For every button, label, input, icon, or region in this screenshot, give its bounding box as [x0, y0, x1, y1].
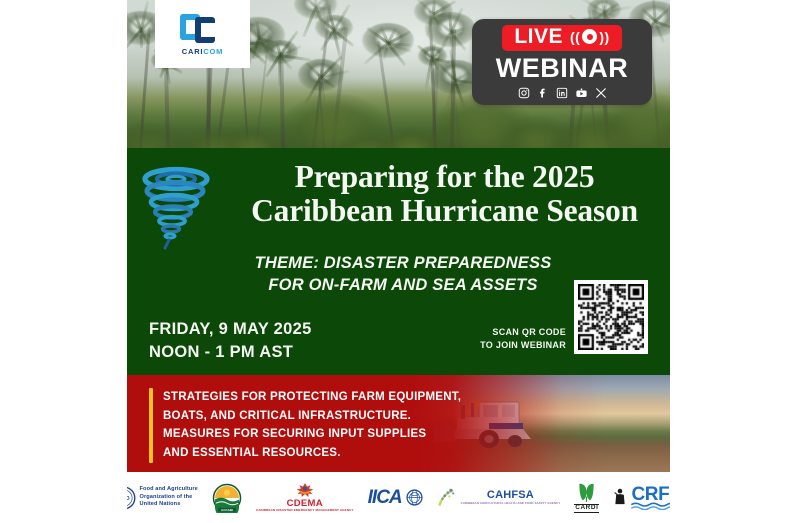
live-pill: LIVE (()) [502, 25, 621, 51]
banner-lines: STRATEGIES FOR PROTECTING FARM EQUIPMENT… [163, 388, 461, 463]
cahfsa-sublabel: CARIBBEAN AGRICULTURAL HEALTH AND FOOD S… [461, 502, 561, 505]
iica-label: IICA [368, 488, 402, 507]
crfm-logo: CRFM [613, 485, 670, 510]
cardi-leaf-icon [577, 482, 596, 503]
banner-line-3: MEASURES FOR SECURING INPUT SUPPLIES [163, 425, 461, 444]
qr-caption-line-1: SCAN QR CODE [438, 326, 566, 339]
accabi-emblem-icon: ACCABI [212, 483, 242, 513]
fao-logo: FAO Food and Agriculture Organization of… [127, 486, 198, 510]
event-date: FRIDAY, 9 MAY 2025 [149, 318, 312, 341]
title-block: Preparing for the 2025 Caribbean Hurrica… [227, 160, 662, 228]
live-webinar-badge: LIVE (()) WEBINAR [472, 19, 652, 105]
caricom-word-com: COM [203, 47, 223, 56]
qr-caption-line-2: TO JOIN WEBINAR [438, 339, 566, 352]
fao-emblem-icon: FAO [127, 486, 136, 510]
cardi-logo: CARDI [574, 482, 599, 513]
broadcast-icon: (()) [570, 29, 610, 44]
qr-caption: SCAN QR CODE TO JOIN WEBINAR [438, 326, 566, 352]
crfm-waves-icon [631, 502, 670, 510]
date-time-block: FRIDAY, 9 MAY 2025 NOON - 1 PM AST [149, 318, 312, 364]
caricom-word-cari: CARI [182, 47, 204, 56]
caricom-mark-icon [180, 12, 226, 46]
youtube-icon[interactable] [575, 87, 588, 99]
banner-line-4: AND ESSENTIAL RESOURCES. [163, 444, 461, 463]
crfm-fisherman-icon [613, 488, 627, 508]
event-time: NOON - 1 PM AST [149, 341, 312, 364]
x-twitter-icon[interactable] [595, 87, 607, 99]
title-line-1: Preparing for the 2025 [227, 160, 662, 194]
webinar-flyer: CARICOM LIVE (()) WEBINAR [127, 0, 670, 523]
iica-globe-icon [406, 489, 423, 506]
banner-line-1: STRATEGIES FOR PROTECTING FARM EQUIPMENT… [163, 388, 461, 407]
theme-line-1: THEME: DISASTER PREPAREDNESS [183, 253, 623, 275]
live-label: LIVE [514, 26, 563, 48]
theme-line-2: FOR ON-FARM AND SEA ASSETS [183, 275, 623, 297]
fao-label: Food and Agriculture Organization of the… [140, 486, 198, 508]
social-icons-row [518, 87, 607, 99]
caricom-logo: CARICOM [155, 0, 250, 68]
main-content-panel: Preparing for the 2025 Caribbean Hurrica… [127, 148, 670, 375]
title-line-2: Caribbean Hurricane Season [227, 194, 662, 228]
banner-text-wrap: STRATEGIES FOR PROTECTING FARM EQUIPMENT… [149, 388, 461, 463]
cardi-label: CARDI [574, 504, 599, 513]
webinar-join-qr-code[interactable] [574, 280, 648, 354]
svg-text:FAO: FAO [127, 495, 129, 501]
linkedin-icon[interactable] [556, 87, 568, 99]
accabi-label: ACCABI [221, 507, 233, 511]
cahfsa-emblem-icon [437, 487, 457, 509]
cdema-sublabel: CARIBBEAN DISASTER EMERGENCY MANAGEMENT … [256, 509, 354, 513]
cdema-emblem-icon [294, 482, 316, 498]
live-pill-row: LIVE (()) [502, 25, 621, 51]
cdema-label: CDEMA [287, 499, 323, 509]
caricom-wordmark: CARICOM [182, 48, 223, 56]
hurricane-spiral-icon [139, 166, 217, 250]
banner-line-2: BOATS, AND CRITICAL INFRASTRUCTURE. [163, 407, 461, 426]
accabi-logo: ACCABI [212, 483, 242, 513]
partner-logos-footer: FAO Food and Agriculture Organization of… [127, 472, 670, 523]
key-topics-banner: STRATEGIES FOR PROTECTING FARM EQUIPMENT… [127, 375, 670, 472]
webinar-label: WEBINAR [496, 54, 629, 82]
facebook-icon[interactable] [537, 87, 549, 99]
theme-block: THEME: DISASTER PREPAREDNESS FOR ON-FARM… [183, 253, 623, 297]
cahfsa-logo: CAHFSA CARIBBEAN AGRICULTURAL HEALTH AND… [437, 487, 561, 509]
hero-banner: CARICOM LIVE (()) WEBINAR [127, 0, 670, 148]
gold-accent-bar [149, 388, 153, 463]
instagram-icon[interactable] [518, 87, 530, 99]
cdema-logo: CDEMA CARIBBEAN DISASTER EMERGENCY MANAG… [256, 482, 354, 513]
cahfsa-label: CAHFSA [487, 490, 534, 501]
iica-logo: IICA [368, 488, 423, 507]
